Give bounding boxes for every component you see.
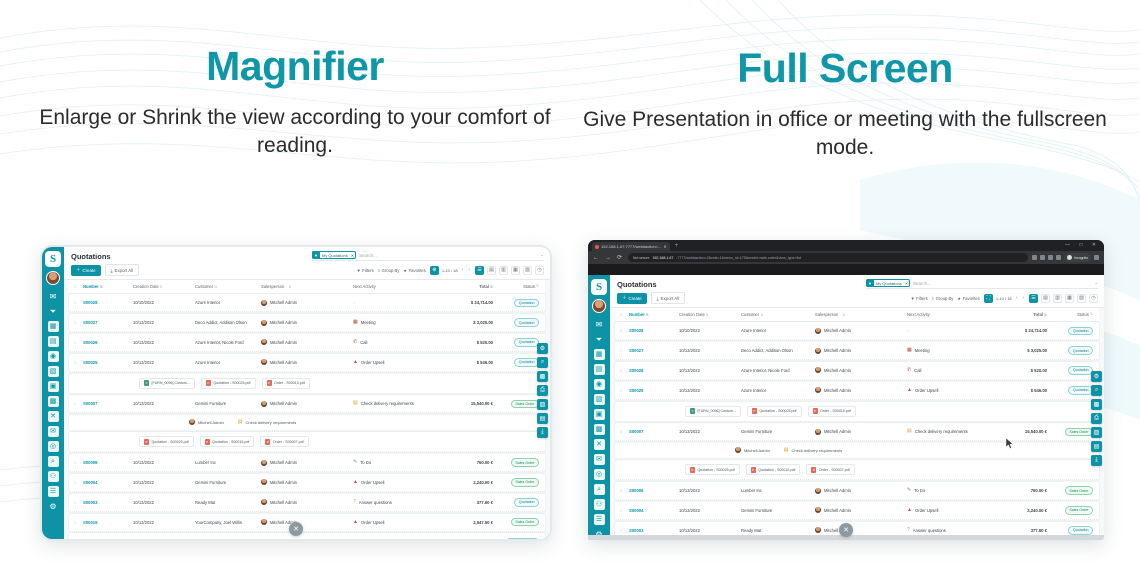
cell-salesperson: Mitchell Admin [261, 339, 353, 345]
attachment-chip[interactable]: X[FURN_0096] Custom... [685, 406, 741, 417]
row-checkbox[interactable]: ○ [74, 480, 83, 485]
person-icon[interactable]: ⚇ [48, 471, 59, 482]
app-main-right: Quotations ▼ My Quotations ✕ Search... ⌄ [610, 275, 1104, 540]
attachment-chip[interactable]: POrder - S00007.pdf [260, 436, 308, 447]
mouse-cursor-icon [1006, 438, 1014, 449]
cell-salesperson: Mitchell Admin [815, 527, 907, 533]
table-row[interactable]: ○S0002510/13/2022Azure InteriorMitchell … [615, 382, 1099, 400]
chevron-down-icon[interactable]: ⌄ [540, 252, 544, 258]
attachment-label: [FURN_0096] Custom... [698, 409, 736, 413]
search-input[interactable]: Search... [913, 281, 1091, 286]
table-row[interactable]: ○S0002710/13/2022Deco Addict, Addison Ol… [615, 342, 1099, 360]
cell-next-activity: ▲Order Upsell [353, 480, 435, 485]
kebab-menu-icon[interactable] [1094, 255, 1099, 260]
pdf-file-icon: P [690, 467, 695, 473]
avatar [261, 320, 267, 326]
cell-number[interactable]: S00028 [83, 300, 133, 305]
email-icon[interactable]: ✉ [48, 426, 59, 437]
attachment-chip[interactable]: PQuotation - S00025.pdf [201, 378, 256, 389]
pdf-file-icon: P [205, 439, 210, 445]
cell-creation-date: 10/13/2022 [679, 388, 741, 393]
cell-status: Quotation [1047, 526, 1093, 534]
status-badge: Quotation Sent [506, 538, 539, 539]
column-header-number[interactable]: Number⇅ [83, 284, 133, 289]
dashboard-icon[interactable]: ◉ [594, 379, 605, 390]
column-header-number[interactable]: Number⇅ [629, 312, 679, 317]
next-activity-label: Meeting [361, 320, 376, 325]
table-row[interactable]: ○S0002610/13/2022Azure Interior, Nicole … [69, 334, 545, 352]
extension-icon[interactable] [1040, 255, 1045, 260]
cell-status: Sales Order [493, 518, 539, 526]
search-icon[interactable]: ⌕ [594, 484, 605, 495]
status-badge: Sales Order [511, 478, 539, 486]
browser-tab[interactable]: 192.168.1.67:7777/web#action=... ✕ [592, 242, 670, 251]
table-row[interactable]: ○S0001810/13/2022YourCompany, Joel Willi… [69, 533, 545, 539]
cell-status: Quotation [493, 498, 539, 506]
camera-icon[interactable]: ◎ [48, 441, 59, 452]
table-row[interactable]: ○S0000710/13/2022Gemini FurnitureMitchel… [69, 395, 545, 413]
row-checkbox[interactable]: ○ [74, 340, 83, 345]
close-icon[interactable]: ✕ [839, 523, 853, 537]
avatar [815, 429, 821, 435]
next-activity-label: Order Upsell [915, 388, 939, 393]
attachment-row-2: PQuotation - S00025.pdfPQuotation - S000… [69, 432, 545, 452]
kanban-view-button[interactable]: ▤ [487, 266, 496, 275]
select-all-checkbox[interactable]: ○ [620, 312, 629, 317]
column-header-status[interactable]: Status⇅ [1047, 312, 1093, 317]
search-icon[interactable]: ⌕ [1091, 385, 1102, 396]
cell-total: 15,540.00 € [435, 401, 493, 406]
salesperson-name: Mitchell Admin [824, 328, 851, 333]
attachment-label: Quotation - S00025.pdf [213, 381, 250, 385]
filter-icon[interactable]: ⏷ [594, 334, 605, 345]
cell-next-activity: ▤Check delivery requirements [907, 429, 989, 434]
not-secure-label: Not secure [633, 256, 649, 260]
new-tab-button[interactable]: + [675, 242, 679, 251]
calendar-view-button[interactable]: ▥ [499, 266, 508, 275]
filters-label: Filters [916, 296, 927, 301]
email-icon[interactable]: ✉ [594, 454, 605, 465]
incognito-icon [1067, 255, 1072, 260]
cell-total: 2,947.50 € [435, 520, 493, 525]
row-checkbox[interactable]: ○ [74, 300, 83, 305]
chart-icon[interactable]: ▨ [1091, 427, 1102, 438]
grid-icon[interactable]: ▩ [594, 424, 605, 435]
next-activity-label: Check delivery requirements [915, 429, 968, 434]
column-header-salesperson[interactable]: Salesperson⇅ [815, 312, 907, 317]
row-checkbox[interactable]: ○ [620, 508, 629, 513]
forward-icon[interactable]: → [605, 255, 613, 261]
pager-text: 1-10 / 18 [996, 296, 1012, 301]
upsell-icon: ▲ [907, 508, 912, 513]
avatar [815, 387, 821, 393]
filter-icon: ▼ [312, 251, 320, 259]
question-icon: ? [907, 528, 910, 533]
cell-salesperson: Mitchell Admin [261, 479, 353, 485]
filters-dropdown[interactable]: ▼ Filters [911, 296, 928, 301]
salesperson-name: Mitchell Admin [270, 340, 297, 345]
next-activity-label: Answer questions [359, 500, 392, 505]
attachment-chip[interactable]: PQuotation - S00025.pdf [747, 406, 802, 417]
cell-number[interactable]: S00027 [83, 320, 133, 325]
kanban-view-button[interactable]: ▤ [1041, 294, 1050, 303]
cell-customer: Deco Addict, Addison Olson [195, 320, 261, 325]
cell-number[interactable]: S00025 [83, 360, 133, 365]
table-row[interactable]: ○S0002810/10/2022Azure InteriorMitchell … [615, 322, 1099, 340]
graph-view-button[interactable]: ▨ [1077, 294, 1086, 303]
search-facet-label: My Quotations [874, 281, 905, 286]
cell-customer: Lumber Inc [195, 460, 261, 465]
table-row[interactable]: ○S0000410/13/2022Gemini FurnitureMitchel… [615, 502, 1099, 520]
table-row[interactable]: ○S0002810/10/2022Azure InteriorMitchell … [69, 294, 545, 312]
cell-total: $ 546.00 [989, 388, 1047, 393]
cell-number[interactable]: S00003 [629, 528, 679, 533]
column-header-next-activity[interactable]: Next Activity [353, 284, 435, 289]
chart-icon[interactable]: ▧ [594, 394, 605, 405]
column-header-creation-date[interactable]: Creation Date⇅ [133, 284, 195, 289]
close-icon[interactable]: ✕ [594, 439, 605, 450]
incognito-badge[interactable]: Incognito [1064, 253, 1091, 262]
cell-total: $ 520.00 [435, 340, 493, 345]
calendar-icon[interactable]: ▦ [594, 349, 605, 360]
next-activity-label: Answer questions [913, 528, 946, 533]
select-all-checkbox[interactable]: ○ [74, 284, 83, 289]
upsell-icon: ▲ [353, 360, 358, 365]
table-row[interactable]: ○S0000710/13/2022Gemini FurnitureMitchel… [615, 423, 1099, 441]
column-header-customer[interactable]: Customer⇅ [195, 284, 261, 289]
graph-view-button[interactable]: ▨ [523, 266, 532, 275]
activity-view-button[interactable]: ◷ [1089, 294, 1098, 303]
settings-icon[interactable]: ⚙ [537, 343, 548, 354]
search-area[interactable]: ▼ My Quotations ✕ Search... ⌄ [866, 279, 1098, 289]
calendar-icon[interactable]: ▦ [48, 321, 59, 332]
utility-toolbar-left: ⚙ ⌕ ▩ ⎙ ▨ ▤ ⤓ [537, 343, 548, 438]
status-badge: Quotation [1068, 327, 1093, 335]
table-header: ○ Number⇅ Creation Date⇅ Customer⇅ [615, 308, 1099, 322]
status-badge: Sales Order [1065, 506, 1093, 514]
dashboard-icon[interactable]: ◉ [48, 351, 59, 362]
settings-icon[interactable]: ⚙ [1091, 371, 1102, 382]
column-header-customer[interactable]: Customer⇅ [741, 312, 815, 317]
tablet-mockup-magnifier: S ✉ ⏷ ▦ ▤ ◉ ▧ ▣ ▩ ✕ ✉ ◎ ⌕ ⚇ ☰ ⚙ [40, 245, 552, 541]
cell-customer: Azure Interior [741, 328, 815, 333]
row-checkbox[interactable]: ○ [74, 360, 83, 365]
next-activity-label: Order Upsell [361, 360, 385, 365]
activity-view-button[interactable]: ◷ [535, 266, 544, 275]
row-checkbox[interactable]: ○ [74, 401, 83, 406]
grid-icon[interactable]: ▩ [1091, 399, 1102, 410]
row-checkbox[interactable]: ○ [74, 460, 83, 465]
cell-creation-date: 10/13/2022 [679, 429, 741, 434]
pdf-file-icon: P [751, 467, 756, 473]
close-icon[interactable]: ✕ [905, 281, 910, 286]
activity-placeholder-icon: ○ [353, 300, 356, 305]
column-header-total[interactable]: Total⇅ [989, 312, 1047, 317]
upsell-icon: ▲ [353, 520, 358, 525]
avatar-icon [735, 447, 741, 453]
next-activity-label: Check delivery requirements [361, 401, 414, 406]
attachment-chip[interactable]: POrder - S00007.pdf [806, 464, 854, 475]
favorites-label: Favorites [409, 268, 426, 273]
favorites-dropdown[interactable]: ★ Favorites [957, 296, 980, 301]
settings-icon[interactable]: ⚙ [48, 501, 59, 512]
status-badge: Quotation [514, 318, 539, 326]
note-icon[interactable]: ▤ [1091, 441, 1102, 452]
next-activity-label: Order Upsell [361, 520, 385, 525]
row-checkbox[interactable]: ○ [620, 528, 629, 533]
cell-number[interactable]: S00004 [629, 508, 679, 513]
export-all-button[interactable]: ⤓ Export All [651, 292, 686, 304]
pager-next-button[interactable]: › [1021, 295, 1025, 301]
list-icon[interactable]: ☰ [48, 486, 59, 497]
salesperson-name: Mitchell Admin [824, 508, 851, 513]
cell-total: 15,540.00 € [989, 429, 1047, 434]
cell-number[interactable]: S00026 [629, 368, 679, 373]
calendar-view-button[interactable]: ▥ [1053, 294, 1062, 303]
cell-status: Quotation [493, 338, 539, 346]
search-icon[interactable]: ⌕ [537, 357, 548, 368]
search-facet-my-quotations[interactable]: ▼ My Quotations ✕ [312, 251, 356, 259]
table-row[interactable]: ○S0000410/13/2022Gemini FurnitureMitchel… [69, 474, 545, 492]
export-all-button[interactable]: ⤓ Export All [105, 264, 140, 276]
cell-status: Quotation [493, 358, 539, 366]
cell-next-activity: ✎To Do [353, 460, 435, 465]
cell-salesperson: Mitchell Admin [815, 367, 907, 373]
column-header-creation-date[interactable]: Creation Date⇅ [679, 312, 741, 317]
action-buttons: ＋ Create ⤓ Export All [617, 292, 685, 304]
filter-icon: ▼ [866, 279, 874, 287]
column-header-salesperson[interactable]: Salesperson⇅ [261, 284, 353, 289]
avatar [261, 479, 267, 485]
column-header-status[interactable]: Status⇅ [493, 284, 539, 289]
fullscreen-toggle-button[interactable]: ⛶ [984, 294, 993, 303]
filter-icon[interactable]: ⏷ [48, 306, 59, 317]
cell-number[interactable]: S00007 [83, 401, 133, 406]
quotations-table-right: ○ Number⇅ Creation Date⇅ Customer⇅ [610, 308, 1104, 540]
filters-dropdown[interactable]: ▼ Filters [357, 268, 374, 273]
cell-salesperson: Mitchell Admin [261, 519, 353, 525]
address-bar[interactable]: Not secure 192.168.1.67 :7777/web#action… [628, 253, 1028, 262]
cell-total: 377.60 € [989, 528, 1047, 533]
table-body: ○S0002810/10/2022Azure InteriorMitchell … [69, 294, 545, 539]
cell-salesperson: Mitchell Admin [815, 328, 907, 334]
pdf-file-icon: P [267, 380, 272, 386]
row-checkbox[interactable]: ○ [620, 488, 629, 493]
log-item: ▤Check delivery requirements [784, 447, 842, 453]
app-logo: S [45, 251, 61, 267]
next-activity-label: To Do [360, 460, 371, 465]
avatar [261, 339, 267, 345]
attachment-chip[interactable]: PQuotation - S00025.pdf [139, 436, 194, 447]
attachment-label: Quotation - S00025.pdf [698, 468, 735, 472]
filter-icon: ▼ [911, 296, 915, 301]
salesperson-name: Mitchell Admin [270, 480, 297, 485]
upsell-icon: ▲ [907, 388, 912, 393]
avatar [815, 488, 821, 494]
column-header-next-activity[interactable]: Next Activity [907, 312, 989, 317]
notes-icon[interactable]: ▣ [594, 409, 605, 420]
user-avatar[interactable] [46, 271, 60, 285]
cell-status: Quotation [493, 318, 539, 326]
favicon-icon [595, 245, 599, 249]
table-row[interactable]: ○S0001910/13/2022YourCompany, Joel Willi… [69, 514, 545, 532]
chart-icon[interactable]: ▨ [537, 399, 548, 410]
pager-next-button[interactable]: › [467, 267, 471, 273]
profile-icon[interactable] [1056, 255, 1061, 260]
cell-creation-date: 10/13/2022 [133, 520, 195, 525]
create-button[interactable]: ＋ Create [617, 293, 647, 304]
row-checkbox[interactable]: ○ [620, 429, 629, 434]
activity-log-row: Mitchell Admin▤Check delivery requiremen… [615, 443, 1099, 459]
search-facet-label: My Quotations [320, 253, 351, 258]
attachment-label: [FURN_0096] Custom... [152, 381, 190, 385]
note-icon[interactable]: ▤ [537, 413, 548, 424]
avatar [815, 367, 821, 373]
export-icon[interactable]: ⤓ [537, 427, 548, 438]
column-header-total[interactable]: Total⇅ [435, 284, 493, 289]
status-badge: Quotation [514, 358, 539, 366]
attachment-label: Order - S00015.pdf [274, 381, 305, 385]
row-checkbox[interactable]: ○ [74, 520, 83, 525]
cell-number[interactable]: S00025 [629, 388, 679, 393]
close-icon[interactable]: ✕ [289, 522, 303, 536]
chevron-down-icon[interactable]: ⌄ [1094, 280, 1098, 286]
app-window-left: S ✉ ⏷ ▦ ▤ ◉ ▧ ▣ ▩ ✕ ✉ ◎ ⌕ ⚇ ☰ ⚙ [42, 247, 550, 539]
download-icon: ⤓ [111, 268, 113, 273]
pivot-view-button[interactable]: ▦ [1065, 294, 1074, 303]
attachment-label: Order - S00007.pdf [819, 468, 850, 472]
headline-magnifier: Magnifier Enlarge or Shrink the view acc… [10, 45, 580, 160]
attachment-chip[interactable]: X[FURN_0096] Custom... [139, 378, 195, 389]
contacts-icon[interactable]: ▤ [594, 364, 605, 375]
pager-prev-button[interactable]: ‹ [1015, 295, 1019, 301]
grid-icon[interactable]: ▩ [537, 371, 548, 382]
pivot-view-button[interactable]: ▦ [511, 266, 520, 275]
star-icon[interactable] [1032, 255, 1037, 260]
cell-customer: Azure Interior [741, 388, 815, 393]
create-button[interactable]: ＋ Create [71, 265, 101, 276]
cell-number[interactable]: S00026 [83, 340, 133, 345]
promo-banner: Magnifier Enlarge or Shrink the view acc… [0, 0, 1140, 578]
print-icon[interactable]: ⎙ [1091, 413, 1102, 424]
quotations-table-left: ○ Number⇅ Creation Date⇅ Customer⇅ Sales… [64, 280, 550, 539]
cell-customer: Gemini Furniture [195, 480, 261, 485]
cell-next-activity: ▦Meeting [907, 348, 989, 353]
cell-total: $ 3,025.00 [435, 320, 493, 325]
cell-number[interactable]: S00006 [83, 460, 133, 465]
search-facet-my-quotations[interactable]: ▼ My Quotations ✕ [866, 279, 910, 287]
cell-next-activity: ✆Call [353, 340, 435, 345]
row-checkbox[interactable]: ○ [620, 368, 629, 373]
table-row[interactable]: ○S0000610/13/2022Lumber IncMitchell Admi… [615, 482, 1099, 500]
table-row[interactable]: ○S0002510/13/2022Azure InteriorMitchell … [69, 354, 545, 372]
create-button-label: Create [628, 296, 641, 301]
cell-creation-date: 10/13/2022 [679, 488, 741, 493]
cell-creation-date: 10/13/2022 [133, 460, 195, 465]
magnifier-toggle-button[interactable]: ⊕ [430, 266, 439, 275]
status-badge: Sales Order [511, 518, 539, 526]
url-host: 192.168.1.67 [652, 256, 673, 260]
cell-next-activity: ▤Check delivery requirements [353, 401, 435, 406]
table-row[interactable]: ○S0002710/13/2022Deco Addict, Addison Ol… [69, 314, 545, 332]
cell-number[interactable]: S00003 [83, 500, 133, 505]
print-icon[interactable]: ⎙ [537, 385, 548, 396]
row-checkbox[interactable]: ○ [620, 388, 629, 393]
attachment-chip[interactable]: POrder - S00015.pdf [262, 378, 310, 389]
camera-icon[interactable]: ◎ [594, 469, 605, 480]
reload-icon[interactable]: ⟳ [617, 254, 624, 261]
cell-total: 377.60 € [435, 500, 493, 505]
messages-icon[interactable]: ✉ [594, 319, 605, 330]
cell-number[interactable]: S00027 [629, 348, 679, 353]
salesperson-name: Mitchell Admin [270, 300, 297, 305]
cell-salesperson: Mitchell Admin [815, 507, 907, 513]
chart-icon[interactable]: ▧ [48, 366, 59, 377]
table-row[interactable]: ○S0002610/13/2022Azure Interior, Nicole … [615, 362, 1099, 380]
pager-prev-button[interactable]: ‹ [461, 267, 465, 273]
attachment-chip[interactable]: PQuotation - S00025.pdf [685, 464, 740, 475]
cell-number[interactable]: S00004 [83, 480, 133, 485]
salesperson-name: Mitchell Admin [270, 401, 297, 406]
salesperson-name: Mitchell Admin [824, 488, 851, 493]
cell-number[interactable]: S00019 [83, 520, 133, 525]
meeting-icon: ▦ [353, 320, 358, 325]
attachment-chip[interactable]: POrder - S00015.pdf [808, 406, 856, 417]
view-switcher: ☰ ▤ ▥ ▦ ▨ ◷ [475, 266, 544, 275]
grid-icon[interactable]: ▩ [48, 396, 59, 407]
contacts-icon[interactable]: ▤ [48, 336, 59, 347]
user-avatar[interactable] [592, 299, 606, 313]
table-row[interactable]: ○S0000610/13/2022Lumber IncMitchell Admi… [69, 454, 545, 472]
window-controls[interactable]: — □ ✕ [1065, 242, 1100, 248]
status-badge: Quotation [514, 299, 539, 307]
cell-customer: Deco Addict, Addison Olson [741, 348, 815, 353]
cell-creation-date: 10/10/2022 [133, 300, 195, 305]
messages-icon[interactable]: ✉ [48, 291, 59, 302]
cell-number[interactable]: S00007 [629, 429, 679, 434]
list-view-button[interactable]: ☰ [475, 266, 484, 275]
list-view-button[interactable]: ☰ [1029, 294, 1038, 303]
export-icon[interactable]: ⤓ [1091, 455, 1102, 466]
attachment-chip[interactable]: PQuotation - S00015.pdf [200, 436, 255, 447]
list-icon[interactable]: ☰ [594, 514, 605, 525]
search-icon[interactable]: ⌕ [48, 456, 59, 467]
person-icon[interactable]: ⚇ [594, 499, 605, 510]
star-icon: ★ [957, 296, 961, 301]
back-icon[interactable]: ← [593, 255, 601, 261]
group-by-dropdown[interactable]: ≡ Group By [932, 296, 954, 301]
close-icon[interactable]: ✕ [351, 253, 356, 258]
cell-number[interactable]: S00028 [629, 328, 679, 333]
row-checkbox[interactable]: ○ [74, 500, 83, 505]
favorites-dropdown[interactable]: ★ Favorites [403, 268, 426, 273]
attachment-chip[interactable]: PQuotation - S00015.pdf [746, 464, 801, 475]
group-by-dropdown[interactable]: ≡ Group By [378, 268, 400, 273]
search-area[interactable]: ▼ My Quotations ✕ Search... ⌄ [312, 251, 544, 261]
row-checkbox[interactable]: ○ [74, 320, 83, 325]
search-input[interactable]: Search... [359, 253, 537, 258]
close-icon[interactable]: ✕ [48, 411, 59, 422]
row-checkbox[interactable]: ○ [620, 348, 629, 353]
puzzle-icon[interactable] [1048, 255, 1053, 260]
row-checkbox[interactable]: ○ [620, 328, 629, 333]
notes-icon[interactable]: ▣ [48, 381, 59, 392]
cell-number[interactable]: S00006 [629, 488, 679, 493]
table-row[interactable]: ○S0000310/13/2022Ready MatMitchell Admin… [69, 494, 545, 512]
cell-status: Sales Order [1047, 428, 1093, 436]
close-icon[interactable]: ✕ [663, 244, 666, 249]
headline-fullscreen: Full Screen Give Presentation in office … [560, 47, 1130, 162]
